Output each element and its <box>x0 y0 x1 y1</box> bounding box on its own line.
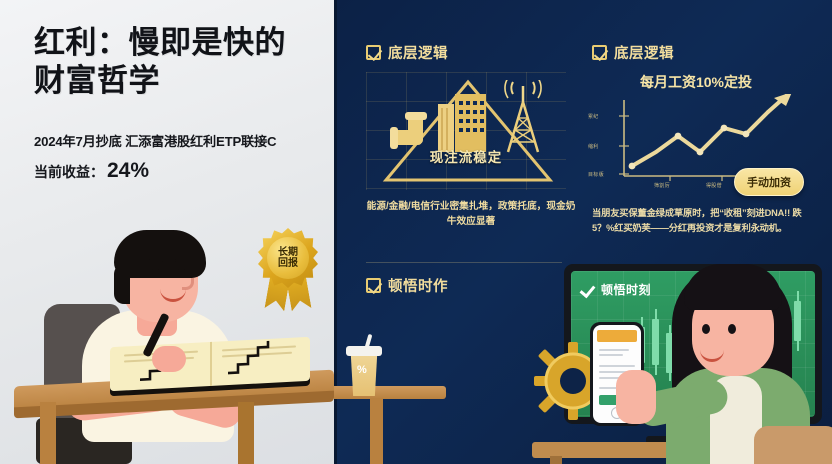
yield-value: 24% <box>107 159 149 183</box>
card-a-description: 能源/金融/电信行业密集扎堆，政策托底，现金奶牛效应显著 <box>366 199 576 229</box>
card-a-title: 底层逻辑 <box>388 42 448 63</box>
screen-label: 顿悟时刻 <box>601 281 651 298</box>
candle-bar <box>794 301 801 341</box>
telecom-tower-icon <box>498 80 548 154</box>
card-insight-moment: 顿悟时作 <box>366 275 448 305</box>
card-c-title: 顿悟时作 <box>388 275 448 296</box>
person-eye-right-shape <box>178 267 185 276</box>
phone-text-line <box>599 354 623 356</box>
card-b-header: 底层逻辑 <box>592 42 810 63</box>
card-a-header: 底层逻辑 <box>366 42 576 63</box>
coffee-cup-icon: % <box>346 338 382 396</box>
building-icon <box>438 90 486 152</box>
card-b-description: 当朋友买保董金绿成草原时，把“收租”刻进DNA!! 跌5？%红买奶芙——分红再投… <box>592 206 814 236</box>
headline-line-1: 红利：慢即是快的 <box>34 24 324 62</box>
person-hand-shape <box>152 346 186 372</box>
desk-leg-left-shape <box>40 402 56 464</box>
section-divider-rule <box>366 262 562 263</box>
checkbox-icon[interactable] <box>592 45 607 60</box>
sector-illustration: 现注流稳定 <box>366 72 566 190</box>
headline-line-2: 财富哲学 <box>34 62 324 100</box>
card-underlying-logic-investing: 底层逻辑 每月工资10%定投 <box>592 42 810 252</box>
y-axis-tick-label: 累纪 <box>588 113 599 120</box>
woman-hair-front-shape <box>684 264 782 310</box>
card-b-title: 底层逻辑 <box>614 42 674 63</box>
poster-root: 红利：慢即是快的 财富哲学 2024年7月抄底 汇添富港股红利ETP联接C 当前… <box>0 0 832 464</box>
person-hair-side-shape <box>114 264 130 304</box>
candle-bar <box>652 319 659 365</box>
woman-eye-right-shape <box>728 324 736 334</box>
side-table-leg-shape <box>370 398 383 464</box>
investment-growth-chart: 累纪 缩利 目标版 筛割厉 得股僧 手动加资 <box>588 94 798 194</box>
y-axis-tick-label: 缩利 <box>588 143 599 150</box>
manual-add-position-button[interactable]: 手动加资 <box>734 168 804 196</box>
sector-illustration-label: 现注流稳定 <box>410 146 522 166</box>
screen-header: 顿悟时刻 <box>581 281 651 298</box>
x-axis-tick-label: 得股僧 <box>706 182 722 189</box>
right-panel: 底层逻辑 <box>334 0 832 464</box>
card-c-header: 顿悟时作 <box>366 275 448 296</box>
chart-title: 每月工资10%定投 <box>596 72 796 92</box>
left-panel: 红利：慢即是快的 财富哲学 2024年7月抄底 汇添富港股红利ETP联接C 当前… <box>0 0 334 464</box>
woman-chair-shape <box>754 426 832 464</box>
y-axis-tick-label: 目标版 <box>588 171 604 178</box>
check-icon <box>581 283 595 297</box>
yield-label: 当前收益： <box>34 162 104 182</box>
checkbox-icon[interactable] <box>366 45 381 60</box>
subtitle: 2024年7月抄底 汇添富港股红利ETP联接C <box>34 131 334 150</box>
woman-eye-left-shape <box>702 324 710 334</box>
man-at-desk-illustration <box>0 194 334 464</box>
woman-with-phone-illustration: 顿悟时刻 <box>542 258 832 464</box>
desk-leg-shape <box>550 456 562 464</box>
phone-text-line <box>599 349 629 351</box>
current-yield: 当前收益： 24% <box>34 159 149 183</box>
phone-text-line <box>599 365 635 367</box>
phone-banner-shape <box>597 330 637 342</box>
person-eye-left-shape <box>152 267 159 276</box>
desk-leg-right-shape <box>238 402 254 464</box>
card-underlying-logic-sectors: 底层逻辑 <box>366 42 576 252</box>
woman-hand-shape <box>616 370 656 424</box>
checkbox-icon[interactable] <box>366 278 381 293</box>
cup-logo-icon: % <box>357 364 367 376</box>
page-title: 红利：慢即是快的 财富哲学 <box>34 24 324 100</box>
x-axis-tick-label: 筛割厉 <box>654 182 670 189</box>
